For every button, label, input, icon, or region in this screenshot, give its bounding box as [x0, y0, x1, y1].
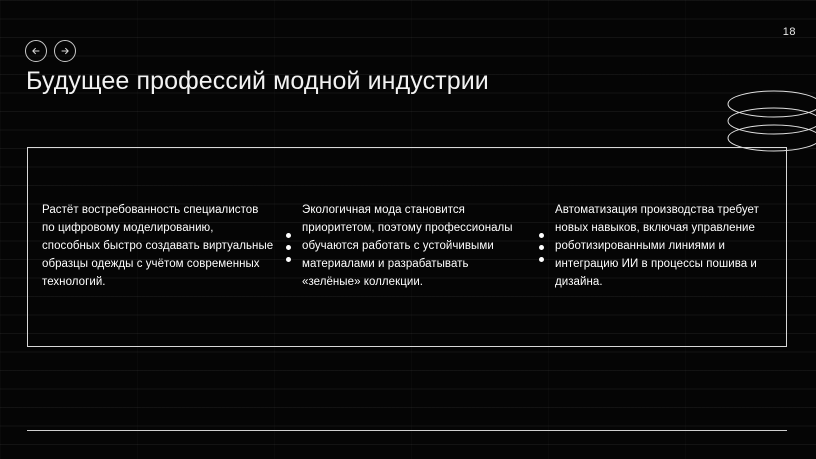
content-panel: Растёт востребованность специалистов по … — [27, 147, 787, 347]
separator-dot — [539, 245, 544, 250]
columns-container: Растёт востребованность специалистов по … — [28, 202, 786, 291]
content-column-1: Растёт востребованность специалистов по … — [36, 202, 274, 291]
separator-dot — [286, 257, 291, 262]
previous-slide-button[interactable] — [25, 40, 47, 62]
column-separator-dots-1 — [274, 233, 302, 262]
next-slide-button[interactable] — [54, 40, 76, 62]
separator-dot — [539, 233, 544, 238]
content-column-3: Автоматизация производства требует новых… — [555, 202, 777, 291]
page-number: 18 — [783, 27, 796, 38]
arrow-left-icon — [30, 45, 42, 57]
separator-dot — [539, 257, 544, 262]
column-separator-dots-2 — [527, 233, 555, 262]
slide-canvas: 18 Будущее профессий модной индустрии Ра… — [0, 0, 816, 459]
arrow-right-icon — [59, 45, 71, 57]
bottom-divider — [27, 430, 787, 431]
navigation-controls — [25, 40, 76, 62]
page-title: Будущее профессий модной индустрии — [26, 66, 489, 97]
content-column-2: Экологичная мода становится приоритетом,… — [302, 202, 527, 291]
separator-dot — [286, 233, 291, 238]
separator-dot — [286, 245, 291, 250]
